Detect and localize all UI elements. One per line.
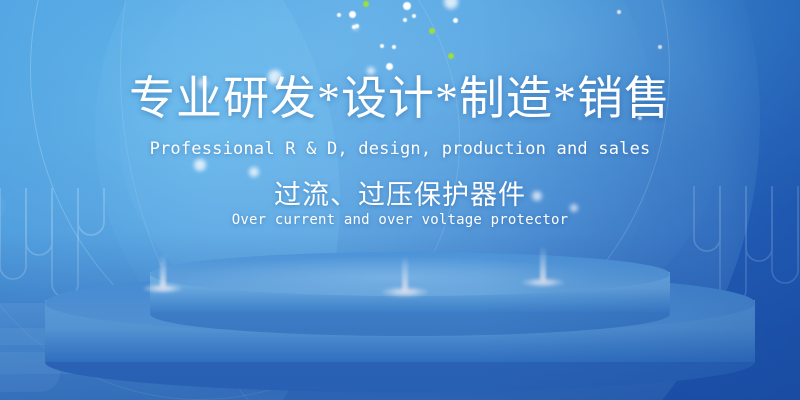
headline-chinese: 专业研发*设计*制造*销售 bbox=[0, 74, 800, 124]
headline-english: Professional R & D, design, production a… bbox=[0, 138, 800, 160]
subheadline-english: Over current and over voltage protector bbox=[0, 210, 800, 230]
promotional-banner: 专业研发*设计*制造*销售 Professional R & D, design… bbox=[0, 0, 800, 400]
subheadline-chinese: 过流、过压保护器件 bbox=[0, 178, 800, 212]
headline-text-block: 专业研发*设计*制造*销售 Professional R & D, design… bbox=[0, 0, 800, 400]
